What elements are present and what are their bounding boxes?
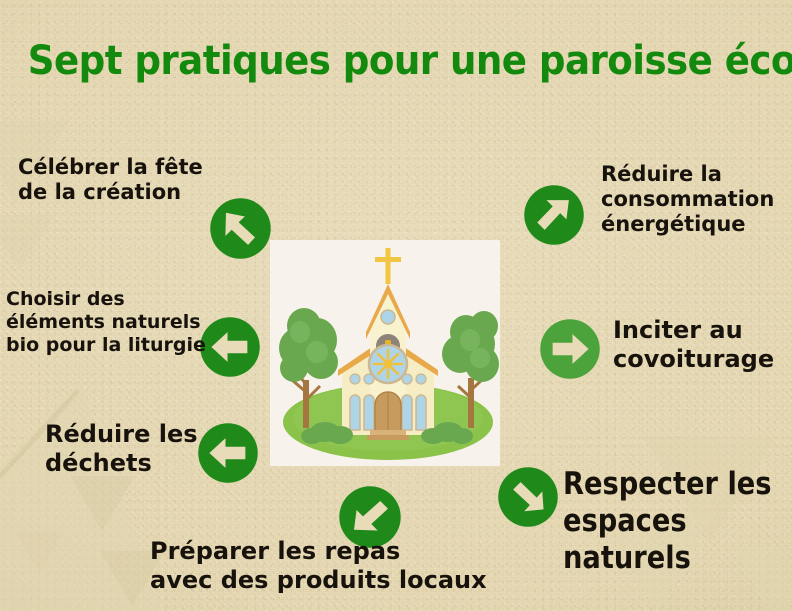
practice-label-preparer-repas-locaux: Préparer les repas avec des produits loc… [150,537,500,595]
practice-label-choisir-elements-naturels: Choisir des éléments naturels bio pour l… [6,288,206,356]
arrow-down-right-icon[interactable] [497,466,559,528]
practice-label-respecter-espaces-naturels: Respecter les espaces naturels [563,466,783,578]
page-title: Sept pratiques pour une paroisse écolo [28,38,765,84]
practice-label-reduire-dechets: Réduire les déchets [45,420,225,478]
practice-label-inciter-covoiturage: Inciter au covoiturage [613,316,792,374]
practice-label-celebrer-fete-creation: Célébrer la fête de la création [18,155,218,205]
rose-window-icon [369,345,407,383]
arrow-up-left-icon[interactable] [209,197,272,260]
arrow-up-right-icon[interactable] [523,184,585,246]
arrow-right-icon[interactable] [539,318,601,380]
arrow-left-icon[interactable] [199,316,261,378]
slide-canvas: Sept pratiques pour une paroisse écolo [0,0,792,611]
practice-label-reduire-consommation-energetique: Réduire la consommation énergétique [601,162,791,238]
church-illustration [270,240,500,466]
